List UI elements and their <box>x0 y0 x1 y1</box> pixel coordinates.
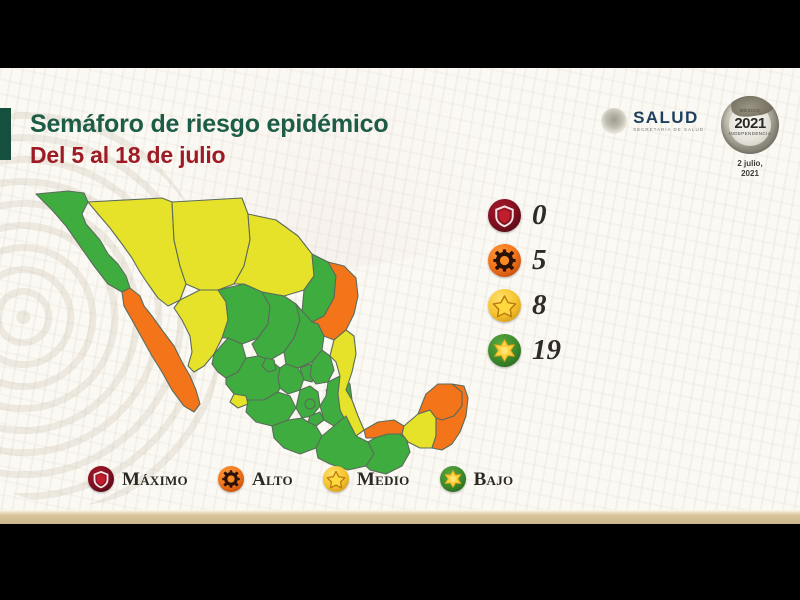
slide-date: 2 julio, 2021 <box>718 159 782 179</box>
legend-item-alto[interactable]: Alto <box>218 466 293 492</box>
legend-label-bajo: Bajo <box>474 470 514 489</box>
count-row-bajo: 19 <box>488 328 561 373</box>
title-block: Semáforo de riesgo epidémico Del 5 al 18… <box>30 110 388 168</box>
letterbox-top <box>0 0 800 68</box>
count-row-alto: 5 <box>488 238 561 283</box>
anniversary-emblem-block: MÉXICO 2021 INDEPENDENCIA 2 julio, 2021 <box>718 96 782 179</box>
legend-item-maximo[interactable]: Máximo <box>88 466 188 492</box>
page-subtitle: Del 5 al 18 de julio <box>30 142 388 168</box>
shield-icon <box>488 199 521 232</box>
legend-item-bajo[interactable]: Bajo <box>440 466 514 492</box>
slide-date-line1: 2 julio, <box>737 159 762 168</box>
count-row-maximo: 0 <box>488 193 561 238</box>
emblem-bottom-text: INDEPENDENCIA <box>721 131 779 136</box>
gear-icon <box>218 466 244 492</box>
salud-tagline: SECRETARÍA DE SALUD <box>633 128 704 133</box>
count-value-bajo: 19 <box>532 336 561 365</box>
emblem-year: 2021 <box>721 115 779 132</box>
letterbox-bottom <box>0 524 800 600</box>
sun-icon <box>488 334 521 367</box>
mexico-risk-map <box>22 180 472 480</box>
gear-icon <box>488 244 521 277</box>
count-value-medio: 8 <box>532 291 547 320</box>
count-row-medio: 8 <box>488 283 561 328</box>
mexico-map-svg <box>22 180 472 480</box>
star-icon <box>323 466 349 492</box>
state-colima[interactable] <box>230 394 248 408</box>
slide-screen: Semáforo de riesgo epidémico Del 5 al 18… <box>0 0 800 600</box>
emblem-top-text: MÉXICO <box>721 108 779 113</box>
anniversary-emblem-icon: MÉXICO 2021 INDEPENDENCIA <box>721 96 779 154</box>
legend-label-maximo: Máximo <box>122 470 188 489</box>
risk-count-legend: 0 <box>488 193 561 373</box>
slide-canvas: Semáforo de riesgo epidémico Del 5 al 18… <box>0 68 800 524</box>
star-icon <box>488 289 521 322</box>
legend-item-medio[interactable]: Medio <box>323 466 410 492</box>
sun-icon <box>440 466 466 492</box>
header-logos: SALUD SECRETARÍA DE SALUD MÉXICO 2021 IN… <box>601 96 782 179</box>
slide-date-line2: 2021 <box>741 169 759 178</box>
legend-label-medio: Medio <box>357 470 410 489</box>
status-legend: Máximo <box>88 466 513 492</box>
salud-logo: SALUD SECRETARÍA DE SALUD <box>601 108 704 134</box>
footer-strip <box>0 510 800 524</box>
legend-label-alto: Alto <box>252 470 293 489</box>
page-title: Semáforo de riesgo epidémico <box>30 110 388 139</box>
salud-wordmark: SALUD SECRETARÍA DE SALUD <box>633 109 704 133</box>
shield-icon <box>88 466 114 492</box>
green-accent-bar <box>0 108 11 160</box>
state-oaxaca[interactable] <box>316 416 374 470</box>
salud-name: SALUD <box>633 109 704 126</box>
mexico-seal-icon <box>601 108 627 134</box>
count-value-maximo: 0 <box>532 201 547 230</box>
count-value-alto: 5 <box>532 246 547 275</box>
state-ciudad-de-mexico[interactable] <box>305 399 315 409</box>
